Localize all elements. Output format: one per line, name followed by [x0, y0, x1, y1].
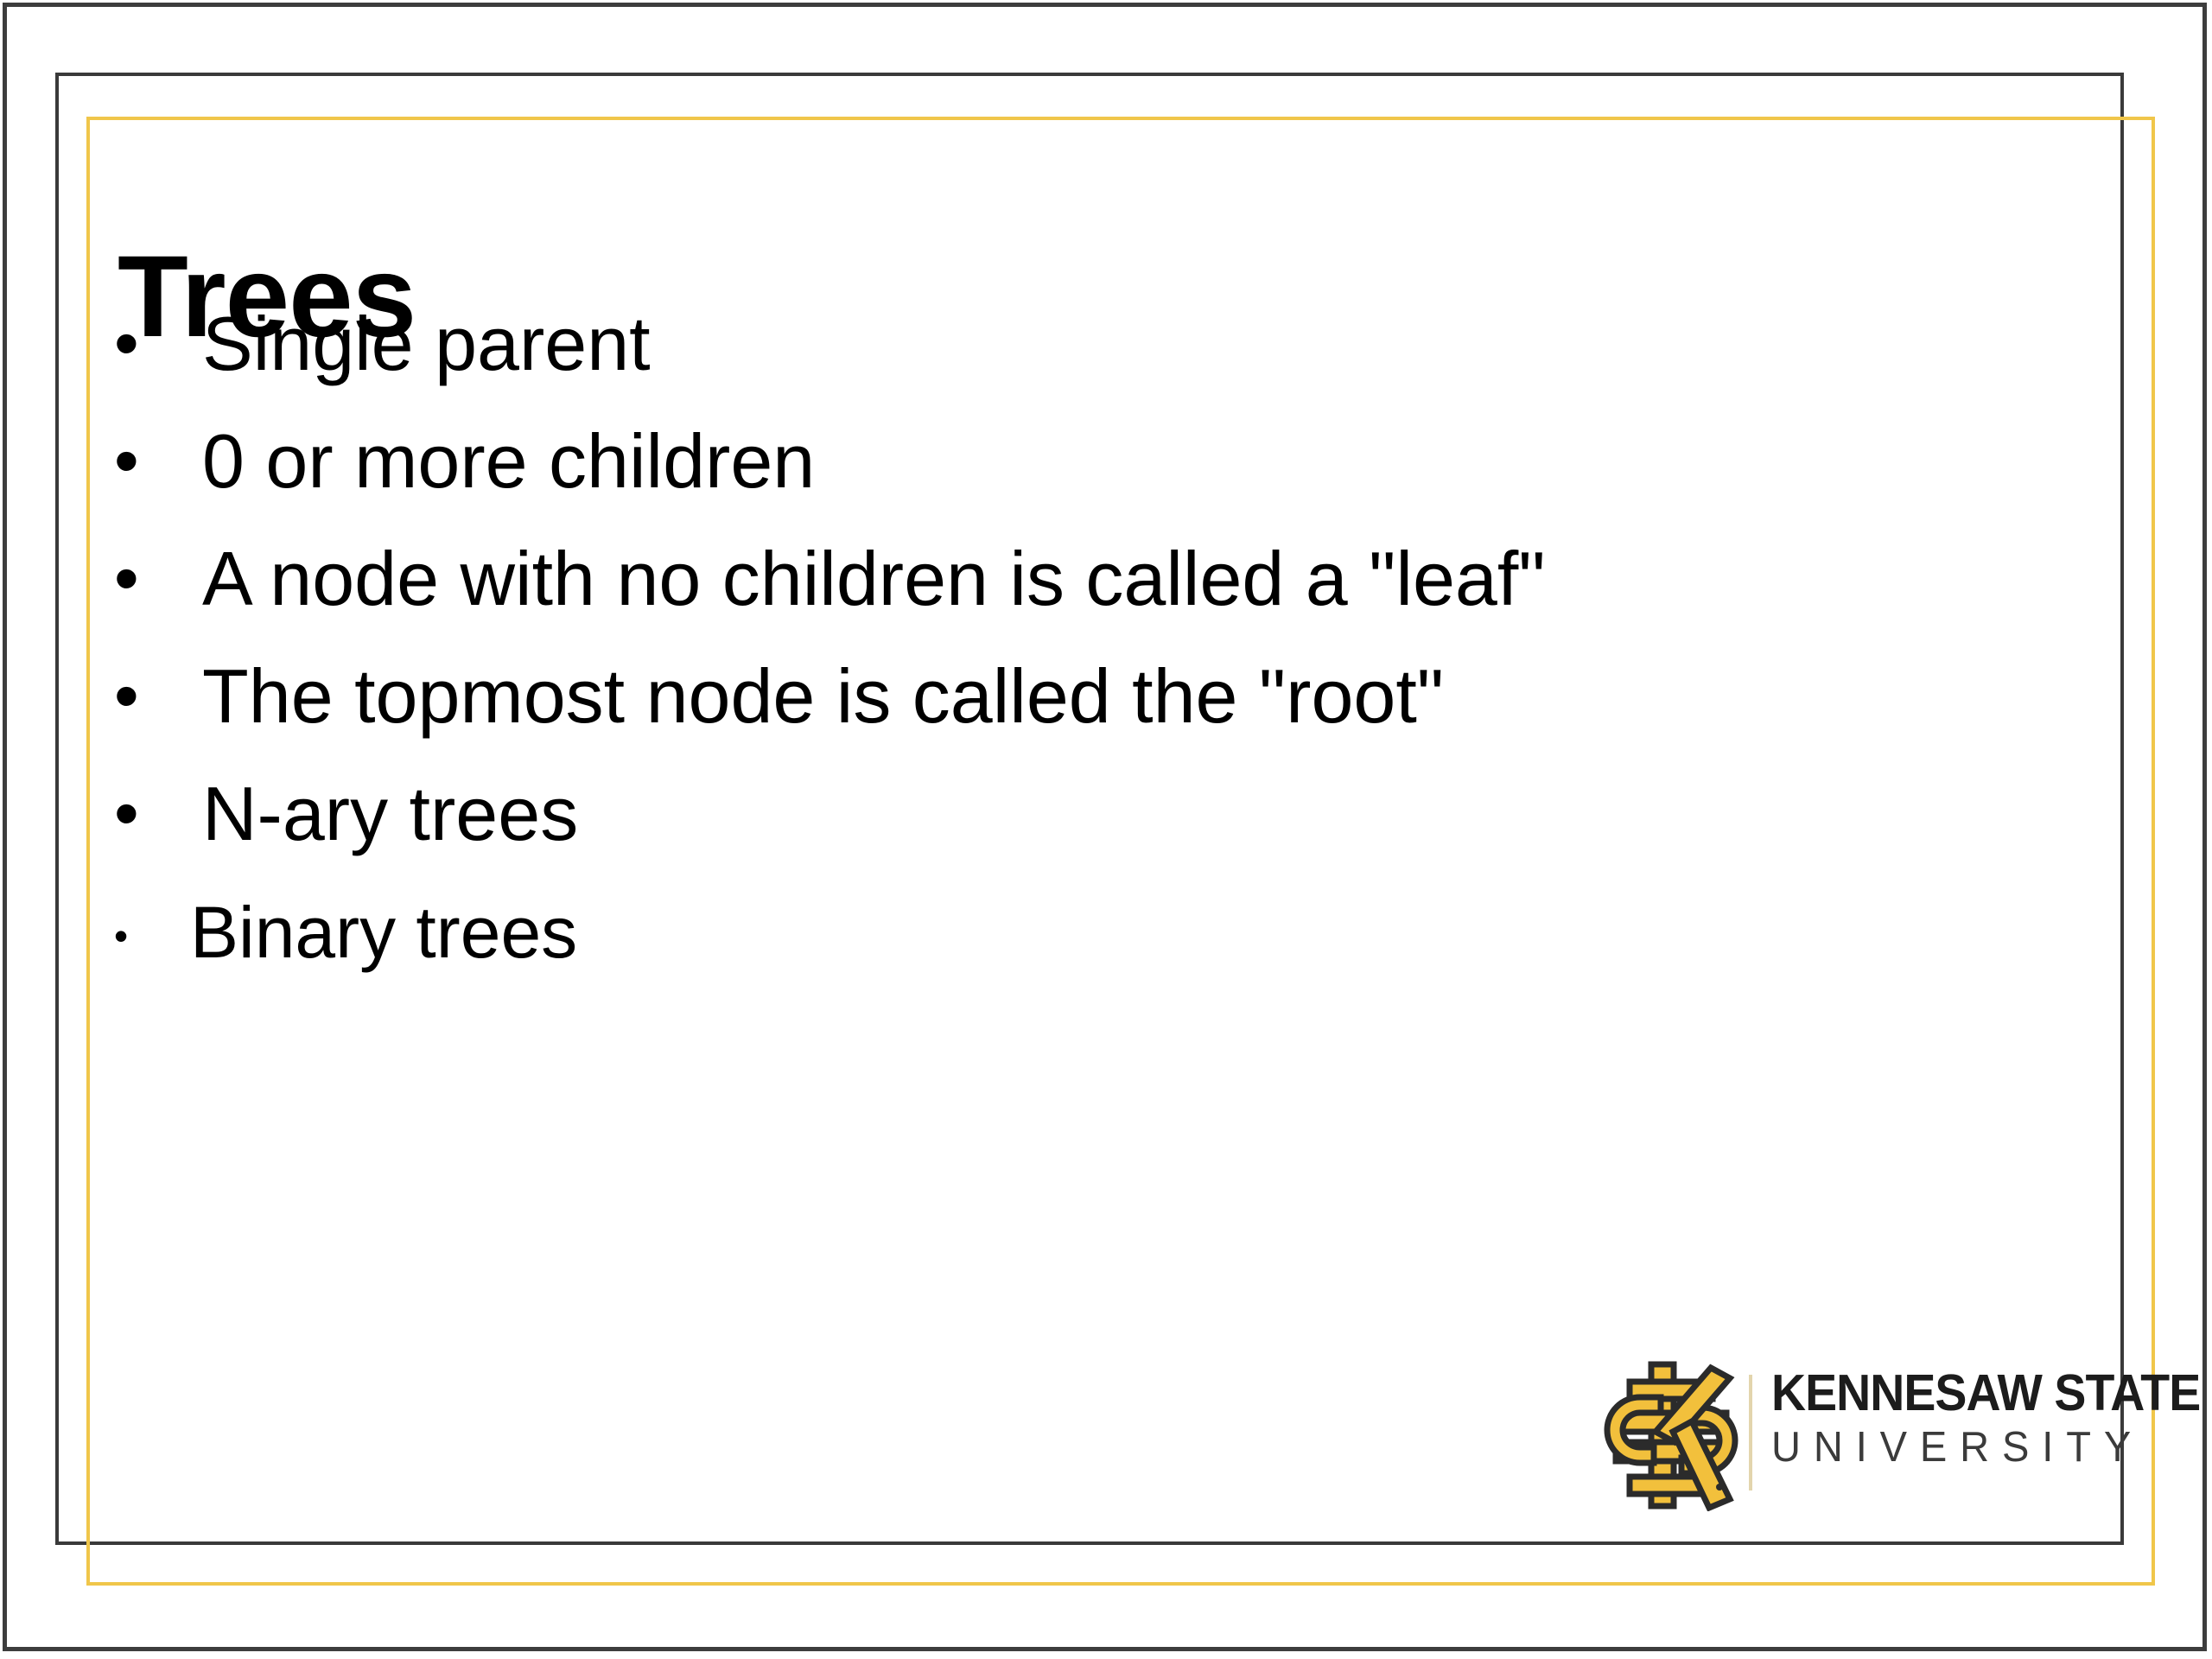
list-item: • The topmost node is called the "root": [90, 645, 2103, 763]
list-item: • Binary trees: [90, 880, 2103, 998]
slide-page: Trees • Single parent • 0 or more childr…: [0, 0, 2212, 1659]
list-item: • Single parent: [90, 293, 2103, 410]
list-item: • 0 or more children: [90, 410, 2103, 528]
logo-line-kennesaw-state: KENNESAW STATE: [1771, 1364, 2088, 1421]
ksu-ks-monogram-icon: [1604, 1359, 1738, 1511]
list-item-label: Single parent: [202, 293, 651, 395]
logo-wordmark: KENNESAW STATE UNIVERSITY: [1771, 1364, 2108, 1473]
logo-line-university: UNIVERSITY: [1771, 1421, 2094, 1473]
bullet-list: • Single parent • 0 or more children • A…: [90, 293, 2103, 998]
list-item-label: The topmost node is called the "root": [202, 645, 1444, 747]
list-item-label: 0 or more children: [202, 410, 815, 512]
logo-divider: [1749, 1375, 1752, 1491]
bullet-marker-icon: •: [114, 410, 166, 512]
bullet-marker-icon: •: [114, 528, 166, 630]
list-item: • A node with no children is called a "l…: [90, 528, 2103, 645]
list-item-label: Binary trees: [190, 880, 577, 984]
list-item: • N-ary trees: [90, 763, 2103, 880]
list-item-label: N-ary trees: [202, 763, 578, 865]
bullet-marker-icon: •: [114, 645, 166, 747]
list-item-label: A node with no children is called a "lea…: [202, 528, 1546, 630]
bullet-marker-icon: •: [114, 880, 166, 991]
bullet-marker-icon: •: [114, 293, 166, 395]
ksu-logo: KENNESAW STATE UNIVERSITY: [1604, 1359, 2108, 1513]
slide-content: Trees • Single parent • 0 or more childr…: [90, 120, 2152, 1582]
bullet-marker-icon: •: [114, 763, 166, 865]
